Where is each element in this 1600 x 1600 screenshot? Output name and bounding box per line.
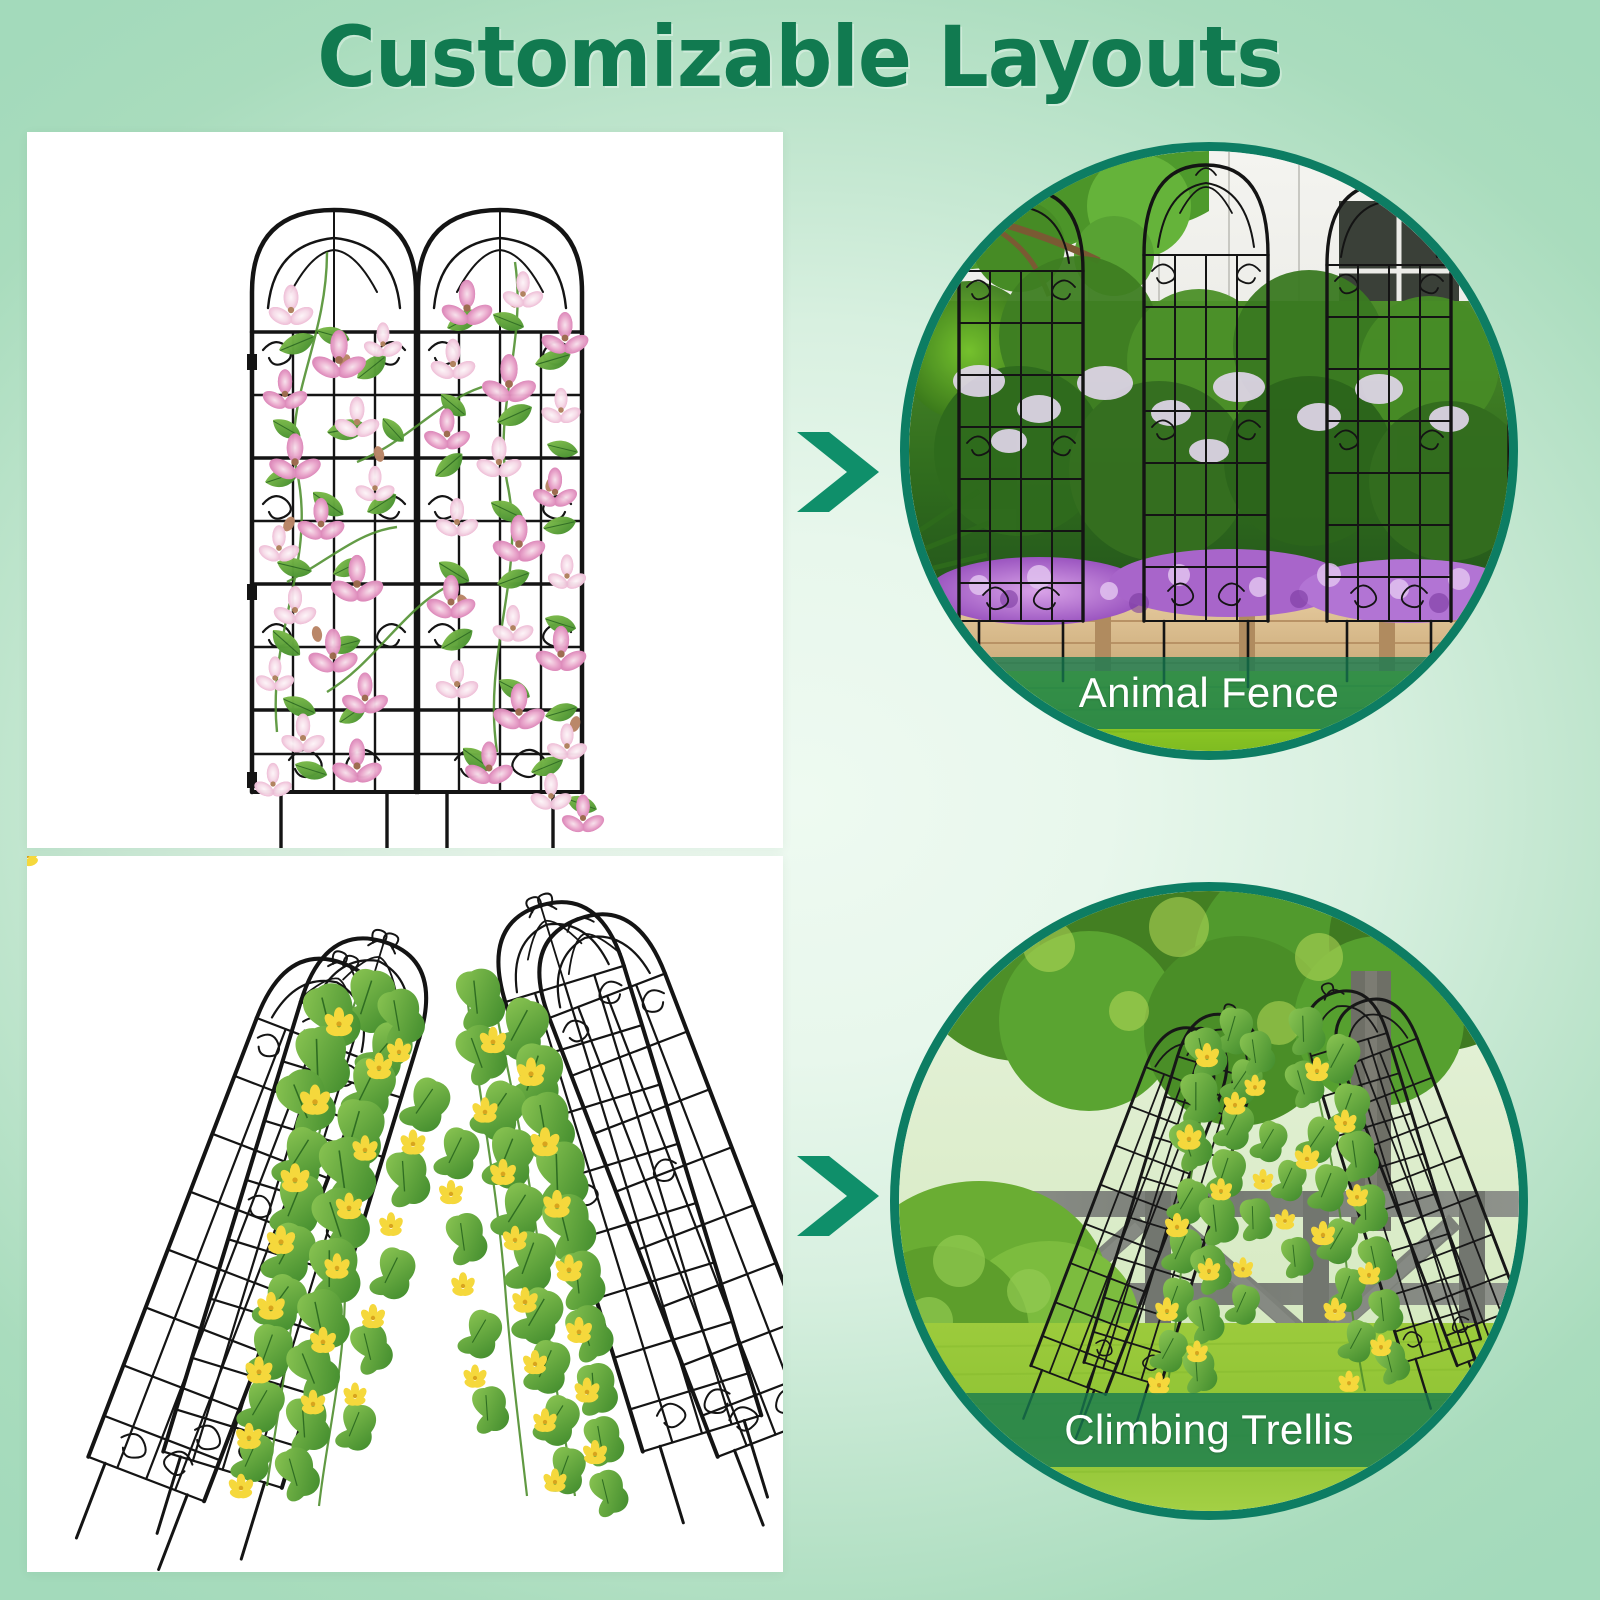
scene-photo-animal-fence: Animal Fence xyxy=(900,142,1518,760)
infographic-canvas: Customizable Layouts xyxy=(0,0,1600,1600)
chevron-right-icon-climbing-trellis xyxy=(775,1136,895,1256)
product-photo-climbing-trellis xyxy=(27,856,783,1572)
product-photo-animal-fence xyxy=(27,132,783,848)
caption-label-animal-fence: Animal Fence xyxy=(1079,672,1339,714)
caption-label-climbing-trellis: Climbing Trellis xyxy=(1064,1409,1354,1451)
caption-banner-animal-fence: Animal Fence xyxy=(909,657,1509,729)
scene-photo-climbing-trellis: Climbing Trellis xyxy=(890,882,1528,1520)
page-title: Customizable Layouts xyxy=(40,8,1560,106)
caption-banner-climbing-trellis: Climbing Trellis xyxy=(899,1393,1519,1467)
chevron-right-icon-animal-fence xyxy=(775,412,895,532)
